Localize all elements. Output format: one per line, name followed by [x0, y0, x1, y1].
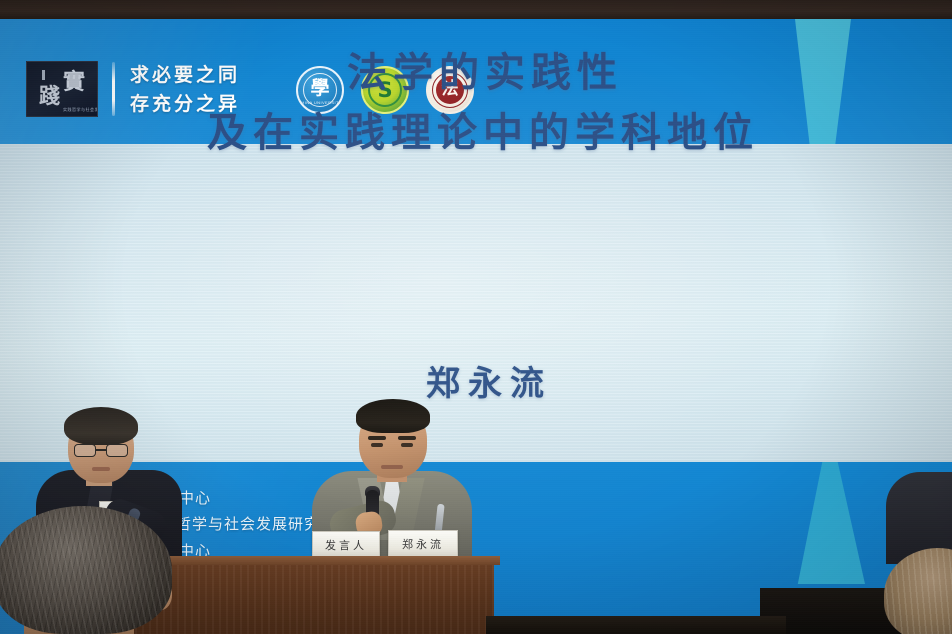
floor-shadow-center — [486, 616, 786, 634]
speaker-name-card: 郑永流 — [388, 530, 458, 557]
glasses-lens-right — [106, 444, 128, 457]
center-speaker-eye-left — [371, 443, 383, 447]
lower-banner-text-line-2: 践哲学与社会发展研究 — [160, 513, 320, 534]
ceiling-strip — [0, 0, 952, 19]
role-name-card: 发言人 — [312, 531, 380, 558]
center-speaker-eye-right — [401, 443, 413, 447]
slide-title: 法学的实践性 及在实践理论中的学科地位 — [0, 44, 952, 164]
center-speaker-mouth — [381, 465, 403, 469]
foreground-audience-left-hair — [0, 506, 172, 634]
glasses-lens-left — [74, 444, 96, 457]
center-speaker-brow-right — [398, 436, 416, 440]
screen-vignette — [0, 144, 952, 474]
conference-photo: 實 踐 实践哲学与社会发展研究中心 求必要之同 存充分之异 學 CHINA UN… — [0, 0, 952, 634]
glasses-bridge — [96, 449, 106, 451]
center-speaker-brow-left — [368, 436, 386, 440]
left-panelist-mouth — [92, 467, 110, 471]
slide-title-line-2: 及在实践理论中的学科地位 — [0, 102, 952, 164]
projection-screen — [0, 144, 952, 474]
left-panelist-hair — [64, 407, 138, 445]
left-panelist-glasses — [74, 444, 128, 457]
slide-title-line-1: 法学的实践性 — [0, 44, 952, 102]
slide-author: 郑永流 — [0, 356, 952, 405]
center-speaker-hair — [356, 399, 430, 433]
